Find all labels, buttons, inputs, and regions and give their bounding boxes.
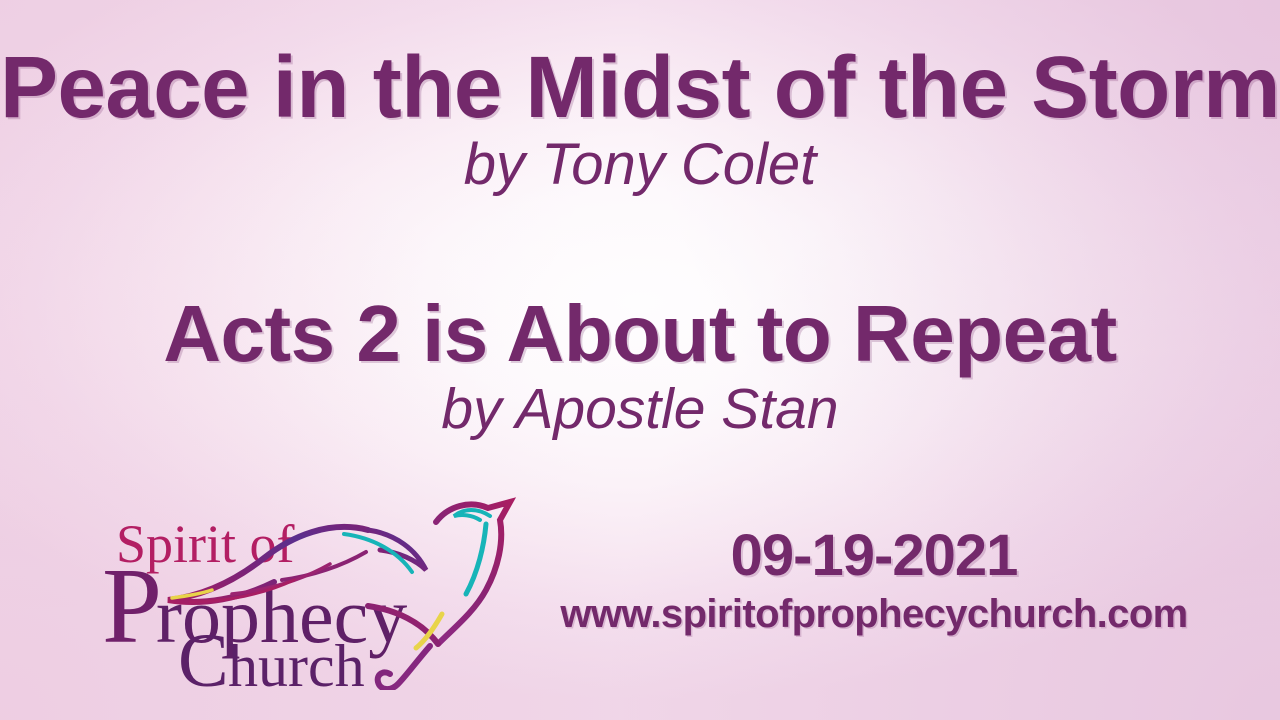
logo-text-prophecy-cap: P <box>102 547 162 666</box>
sermon-title-slide: Peace in the Midst of the Storm by Tony … <box>0 0 1280 720</box>
slide-content: Peace in the Midst of the Storm by Tony … <box>0 0 1280 720</box>
website-url[interactable]: www.spiritofprophecychurch.com <box>554 593 1194 635</box>
sermon-title-1: Peace in the Midst of the Storm <box>0 44 1280 131</box>
sermon-title-2: Acts 2 is About to Repeat <box>0 294 1280 374</box>
sermon-block-2: Acts 2 is About to Repeat by Apostle Sta… <box>0 294 1280 440</box>
sermon-byline-1: by Tony Colet <box>0 135 1280 196</box>
sermon-block-1: Peace in the Midst of the Storm by Tony … <box>0 44 1280 196</box>
logo-text-church-cap: C <box>178 619 229 690</box>
logo-text-church-rest: hurch <box>228 633 365 690</box>
event-date: 09-19-2021 <box>554 526 1194 587</box>
church-logo-svg: Spirit of P rophecy C hurch <box>86 494 526 690</box>
sermon-byline-2: by Apostle Stan <box>0 380 1280 440</box>
event-info-block: 09-19-2021 www.spiritofprophecychurch.co… <box>554 526 1194 635</box>
church-logo: Spirit of P rophecy C hurch <box>86 494 526 690</box>
